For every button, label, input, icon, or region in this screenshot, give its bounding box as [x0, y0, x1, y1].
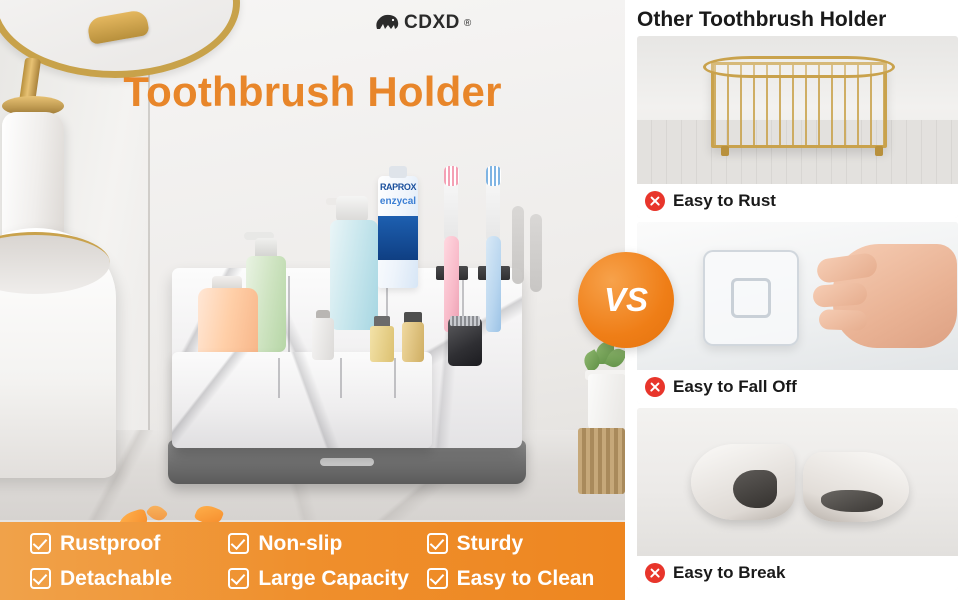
product-infographic: RAPROX enzycal — [0, 0, 970, 600]
x-circle-icon — [645, 191, 665, 211]
page-title: Toothbrush Holder — [0, 68, 625, 116]
wire-basket-foot — [721, 146, 729, 156]
teal-pump-bottle — [330, 220, 378, 330]
shard-interior-shadow — [733, 470, 777, 508]
competitor-comparison-panel: Other Toothbrush Holder Easy to Rust — [625, 0, 970, 600]
feature-item-detachable: Detachable — [30, 567, 228, 591]
toothpaste-product: enzycal — [378, 196, 418, 207]
comparison-label-text: Easy to Break — [673, 563, 785, 583]
broken-ceramic-holder-photo — [637, 408, 958, 556]
feature-label: Detachable — [60, 567, 172, 591]
pump-head — [336, 196, 368, 222]
spare-toothbrush — [512, 206, 524, 284]
organizer-front-shelf — [172, 352, 432, 448]
checkbox-check-icon — [427, 568, 448, 589]
feature-item-rustproof: Rustproof — [30, 532, 228, 556]
organizer-divider — [278, 358, 280, 398]
gold-wire-basket-photo — [637, 36, 958, 184]
feature-item-sturdy: Sturdy — [427, 532, 625, 556]
razor-head — [450, 316, 480, 326]
comparison-card-rust: Easy to Rust — [637, 36, 958, 218]
plant-pot — [588, 374, 625, 432]
woven-basket — [578, 428, 625, 494]
adhesive-hook-slot — [731, 278, 771, 318]
checkbox-check-icon — [228, 568, 249, 589]
x-circle-icon — [645, 563, 665, 583]
comparison-label-text: Easy to Rust — [673, 191, 776, 211]
organizer-drawer-handle — [320, 458, 374, 466]
toothpaste-brand: RAPROX — [378, 182, 418, 192]
toothpaste-label-band — [378, 216, 418, 260]
wire-basket-foot — [875, 146, 883, 156]
feature-label: Large Capacity — [258, 567, 409, 591]
finger — [819, 309, 868, 331]
hero-product-photo-panel: RAPROX enzycal — [0, 0, 625, 600]
photo-background — [637, 408, 958, 556]
feature-label: Easy to Clean — [457, 567, 595, 591]
organizer-divider — [288, 276, 290, 356]
registered-mark: ® — [464, 18, 471, 29]
comparison-card-fall-off: Easy to Fall Off — [637, 222, 958, 404]
checkbox-check-icon — [30, 568, 51, 589]
comparison-label-rust: Easy to Rust — [637, 184, 958, 218]
comparison-label-break: Easy to Break — [637, 556, 958, 590]
elephant-icon — [374, 13, 400, 33]
spare-toothbrush — [530, 214, 542, 292]
vs-badge: VS — [578, 252, 674, 348]
feature-item-non-slip: Non-slip — [228, 532, 426, 556]
checkbox-check-icon — [30, 533, 51, 554]
adhesive-wall-hook-photo — [637, 222, 958, 370]
toothbrush-bristles-blue — [486, 166, 501, 186]
x-circle-icon — [645, 377, 665, 397]
organizer-divider — [340, 358, 342, 398]
perfume-bottle — [370, 326, 394, 362]
comparison-label-fall-off: Easy to Fall Off — [637, 370, 958, 404]
brand-logo: CDXD ® — [374, 12, 471, 34]
comparison-title: Other Toothbrush Holder — [637, 8, 886, 32]
organizer-divider — [394, 358, 396, 398]
shard-interior-shadow — [821, 490, 883, 512]
silver-cosmetic-tube — [312, 318, 334, 360]
brand-name: CDXD — [404, 12, 460, 34]
perfume-bottle — [402, 322, 424, 362]
finger — [812, 282, 867, 308]
comparison-card-break: Easy to Break — [637, 408, 958, 590]
toothbrush-head-blue — [486, 180, 500, 242]
wire-basket-rim — [703, 56, 895, 78]
blue-electric-toothbrush — [486, 236, 501, 332]
feature-item-large-capacity: Large Capacity — [228, 567, 426, 591]
feature-item-easy-to-clean: Easy to Clean — [427, 567, 625, 591]
feature-label: Rustproof — [60, 532, 160, 556]
feature-bar: Rustproof Non-slip Sturdy Detachable Lar… — [0, 522, 625, 600]
toothpaste-cap — [389, 166, 407, 178]
comparison-label-text: Easy to Fall Off — [673, 377, 797, 397]
toothbrush-head-pink — [444, 180, 458, 242]
toothbrush-bristles-pink — [444, 166, 459, 186]
feature-label: Sturdy — [457, 532, 524, 556]
checkbox-check-icon — [427, 533, 448, 554]
checkbox-check-icon — [228, 533, 249, 554]
feature-label: Non-slip — [258, 532, 342, 556]
